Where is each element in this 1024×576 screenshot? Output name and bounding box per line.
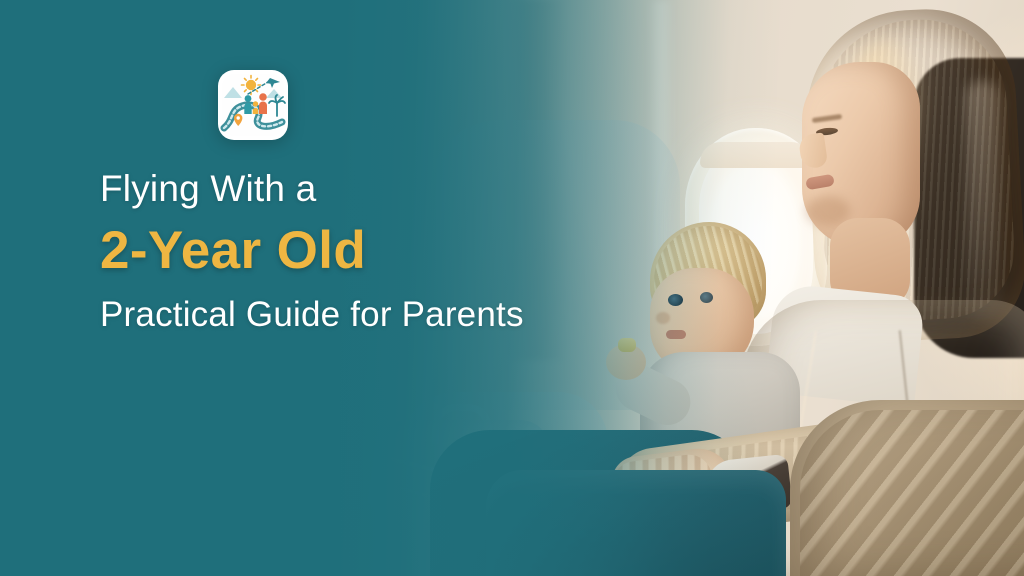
headline-block: Flying With a 2-Year Old Practical Guide…: [100, 168, 560, 334]
banner-content: Flying With a 2-Year Old Practical Guide…: [0, 0, 560, 576]
headline-line-2-highlight: 2-Year Old: [100, 223, 560, 279]
family-travel-logo: [218, 70, 288, 140]
hero-banner: Flying With a 2-Year Old Practical Guide…: [0, 0, 1024, 576]
headline-line-3-subtitle: Practical Guide for Parents: [100, 295, 560, 334]
headline-line-1: Flying With a: [100, 168, 560, 209]
